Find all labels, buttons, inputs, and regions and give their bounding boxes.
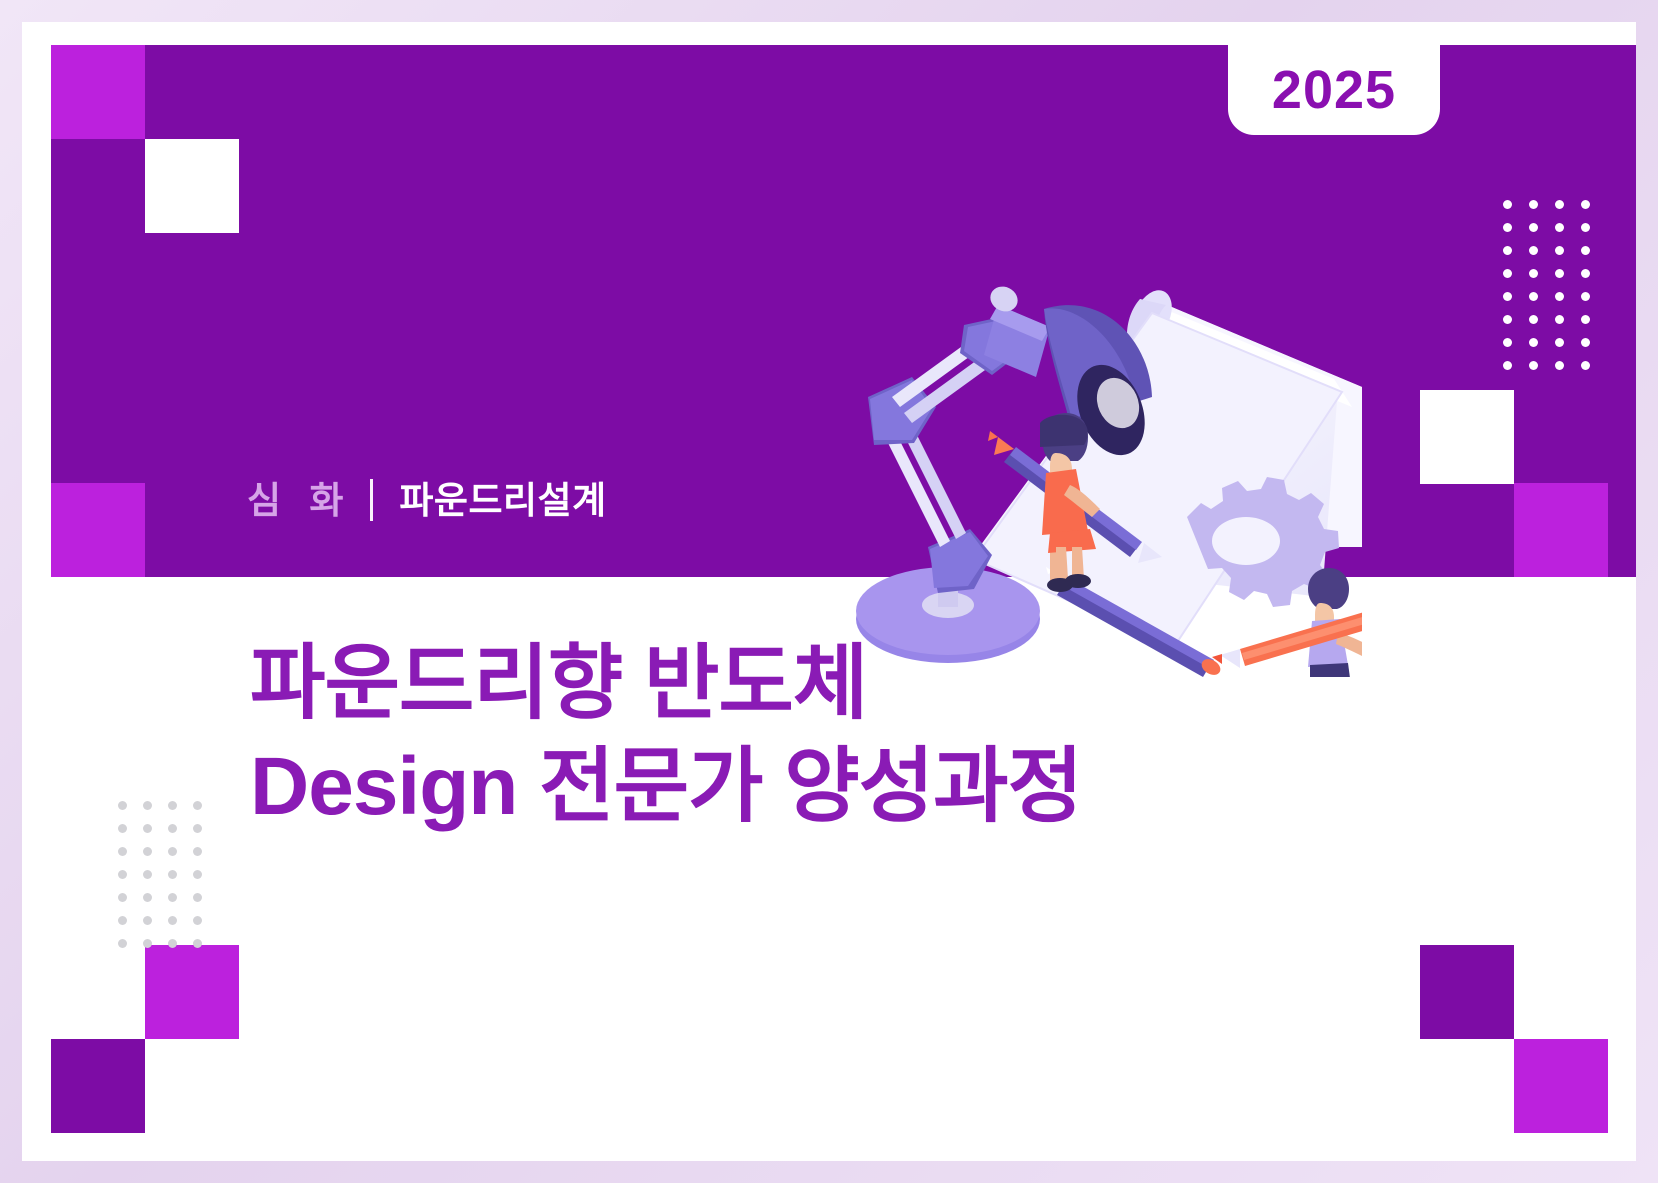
page-title-line-1: 파운드리향 반도체: [250, 632, 1082, 735]
decor-square-bottom-right-deep: [1420, 945, 1514, 1039]
decor-square-bottom-right-magenta: [1514, 1039, 1608, 1133]
slide-canvas: 2025: [22, 22, 1636, 1161]
decor-square-left-middle-magenta: [51, 483, 145, 577]
dot-grid-top-right-icon: [1503, 200, 1607, 384]
year-badge: 2025: [1228, 45, 1440, 135]
decor-square-bottom-left-deep: [51, 1039, 145, 1133]
subtitle-level-label: 심 화: [247, 482, 352, 519]
dot-grid-bottom-left-icon: [118, 801, 218, 962]
decor-square-top-left-magenta: [51, 45, 145, 139]
page-title: 파운드리향 반도체 Design 전문가 양성과정: [250, 632, 1082, 839]
subtitle-row: 심 화 파운드리설계: [247, 474, 607, 526]
decor-square-right-middle-magenta: [1514, 483, 1608, 577]
page-title-line-2: Design 전문가 양성과정: [250, 735, 1082, 838]
subtitle-track-label: 파운드리설계: [399, 482, 606, 519]
character-male-designer: [1308, 568, 1362, 677]
subtitle-divider: [370, 479, 373, 521]
slide-frame: 2025: [0, 0, 1658, 1183]
orange-pencil: [1212, 604, 1362, 668]
decor-square-right-middle-white: [1420, 390, 1514, 484]
decor-square-top-left-white: [145, 139, 239, 233]
year-badge-label: 2025: [1272, 63, 1396, 117]
